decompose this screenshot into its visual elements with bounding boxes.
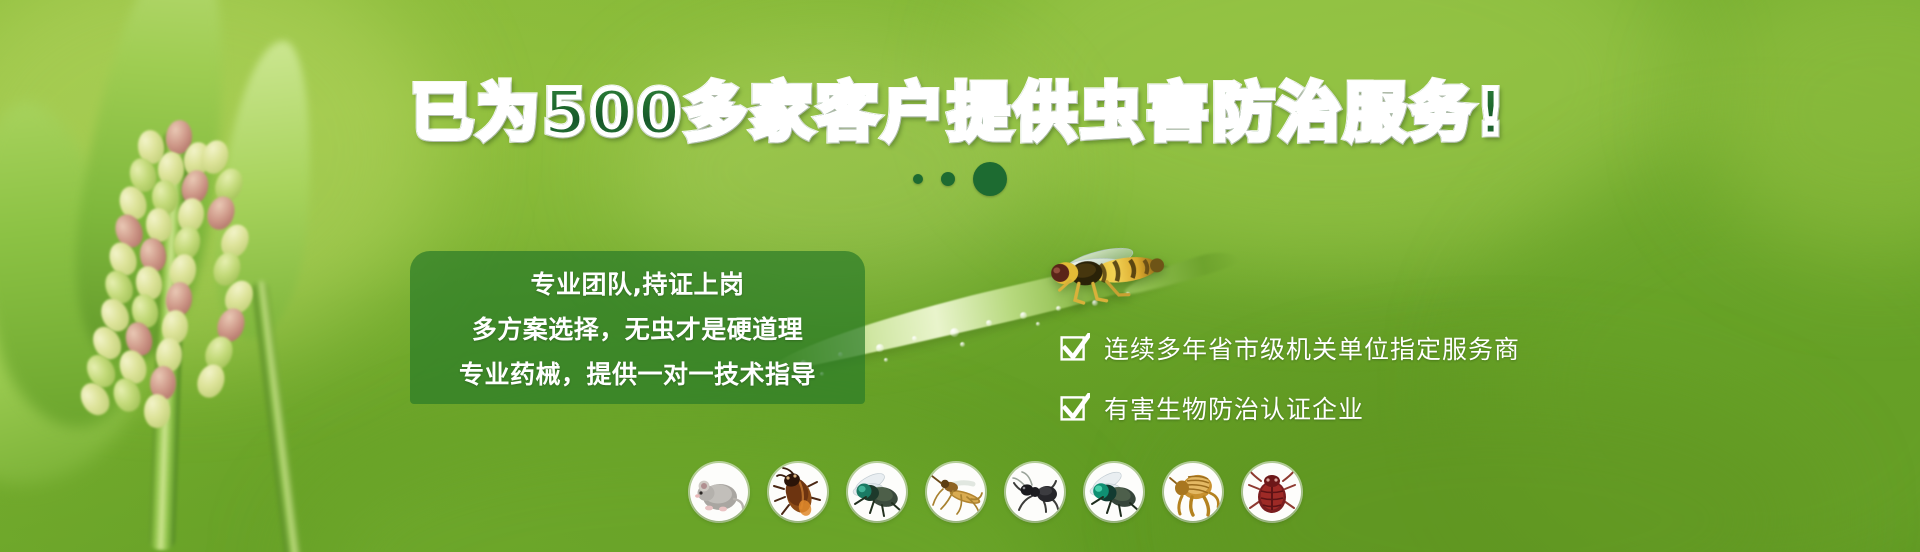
pest-chip-flea[interactable] [1164, 463, 1222, 521]
feature-line-2: 多方案选择，无虫才是硬道理 [472, 310, 804, 346]
rodent-mouse-icon [690, 463, 748, 521]
feature-line-3: 专业药械，提供一对一技术指导 [459, 355, 816, 391]
page-title: 已为500多家客户提供虫害防治服务! [0, 82, 1920, 144]
small-dot-icon [913, 174, 923, 184]
dew-droplet [960, 342, 965, 347]
bluebottle-fly-icon [1085, 463, 1143, 521]
dew-droplet [876, 344, 884, 352]
list-item: 连续多年省市级机关单位指定服务商 [1060, 330, 1520, 366]
list-item-label: 连续多年省市级机关单位指定服务商 [1104, 330, 1520, 366]
mosquito-icon [927, 463, 985, 521]
dew-droplet [884, 358, 888, 362]
pest-chip-housefly[interactable] [848, 463, 906, 521]
pest-control-hero-banner: 已为500多家客户提供虫害防治服务! 已为500多家客户提供虫害防治服务! 专业… [0, 0, 1920, 552]
ant-icon [1006, 463, 1064, 521]
list-item: 有害生物防治认证企业 [1060, 390, 1520, 426]
dew-droplet [1036, 322, 1040, 326]
dew-droplet [986, 320, 992, 326]
medium-dot-icon [941, 172, 955, 186]
bedbug-icon [1243, 463, 1301, 521]
pest-chip-bedbug[interactable] [1243, 463, 1301, 521]
large-dot-icon [973, 162, 1007, 196]
pest-chip-bluebottle-fly[interactable] [1085, 463, 1143, 521]
feature-line-1: 专业团队,持证上岗 [531, 265, 745, 301]
checkbox-checked-icon [1060, 393, 1090, 423]
credentials-checklist: 连续多年省市级机关单位指定服务商 有害生物防治认证企业 [1060, 330, 1520, 426]
features-panel: 专业团队,持证上岗 多方案选择，无虫才是硬道理 专业药械，提供一对一技术指导 [410, 251, 865, 404]
pest-chip-mosquito[interactable] [927, 463, 985, 521]
cockroach-icon [769, 463, 827, 521]
dew-droplet [912, 336, 917, 341]
housefly-icon [848, 463, 906, 521]
dew-droplet [1020, 312, 1027, 319]
list-item-label: 有害生物防治认证企业 [1104, 390, 1364, 426]
flea-icon [1164, 463, 1222, 521]
pest-chip-cockroach[interactable] [769, 463, 827, 521]
checkbox-checked-icon [1060, 333, 1090, 363]
decorative-dots [0, 162, 1920, 196]
pest-chip-ant[interactable] [1006, 463, 1064, 521]
dew-droplet [950, 328, 959, 337]
pest-chip-rodent-mouse[interactable] [690, 463, 748, 521]
pest-type-icons [690, 463, 1301, 521]
